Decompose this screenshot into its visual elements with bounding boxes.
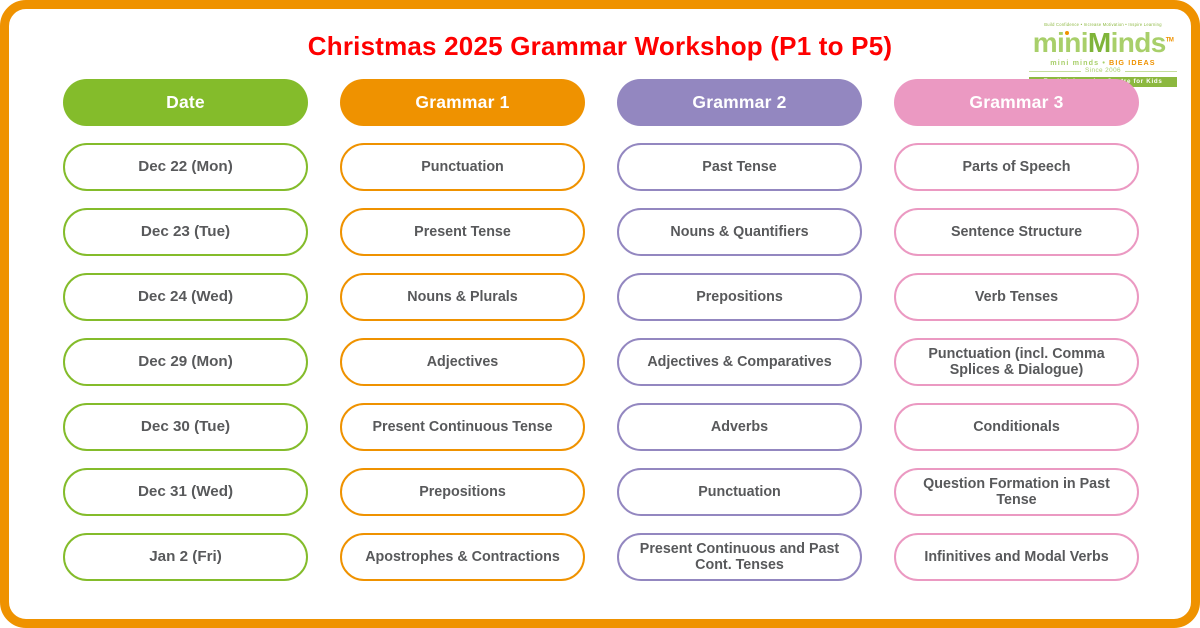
cell-date-1: Dec 22 (Mon)	[63, 143, 308, 191]
logo-subline-big: BIG IDEAS	[1109, 58, 1156, 67]
cell-grammar2-7: Present Continuous and Past Cont. Tenses	[617, 533, 862, 581]
cell-grammar2-6: Punctuation	[617, 468, 862, 516]
logo-word-m: M	[1088, 27, 1111, 58]
column-header-grammar2: Grammar 2	[617, 79, 862, 126]
cell-grammar3-7: Infinitives and Modal Verbs	[894, 533, 1139, 581]
cell-grammar1-6: Prepositions	[340, 468, 585, 516]
logo-trademark: TM	[1166, 38, 1173, 44]
cell-grammar1-2: Present Tense	[340, 208, 585, 256]
page-title: Christmas 2025 Grammar Workshop (P1 to P…	[308, 31, 892, 62]
cell-grammar3-3: Verb Tenses	[894, 273, 1139, 321]
cell-date-5: Dec 30 (Tue)	[63, 403, 308, 451]
column-header-date: Date	[63, 79, 308, 126]
cell-grammar1-7: Apostrophes & Contractions	[340, 533, 585, 581]
cell-grammar3-6: Question Formation in Past Tense	[894, 468, 1139, 516]
miniminds-logo: Build Confidence • Increase Motivation •…	[1029, 23, 1177, 87]
column-grammar2: Grammar 2 Past Tense Nouns & Quantifiers…	[617, 79, 862, 581]
cell-grammar2-2: Nouns & Quantifiers	[617, 208, 862, 256]
logo-subline: mini minds • BIG IDEAS	[1029, 59, 1177, 66]
cell-grammar1-3: Nouns & Plurals	[340, 273, 585, 321]
cell-grammar1-5: Present Continuous Tense	[340, 403, 585, 451]
logo-since: Since 2006	[1029, 68, 1177, 74]
cell-date-7: Jan 2 (Fri)	[63, 533, 308, 581]
cell-date-2: Dec 23 (Tue)	[63, 208, 308, 256]
logo-word-mini: mini	[1033, 27, 1088, 58]
column-grammar3: Grammar 3 Parts of Speech Sentence Struc…	[894, 79, 1139, 581]
schedule-grid: Date Dec 22 (Mon) Dec 23 (Tue) Dec 24 (W…	[63, 79, 1139, 581]
cell-grammar2-4: Adjectives & Comparatives	[617, 338, 862, 386]
column-header-grammar3: Grammar 3	[894, 79, 1139, 126]
column-grammar1: Grammar 1 Punctuation Present Tense Noun…	[340, 79, 585, 581]
cell-grammar3-4: Punctuation (incl. Comma Splices & Dialo…	[894, 338, 1139, 386]
column-date: Date Dec 22 (Mon) Dec 23 (Tue) Dec 24 (W…	[63, 79, 308, 581]
cell-grammar3-2: Sentence Structure	[894, 208, 1139, 256]
logo-subline-light: mini minds •	[1050, 58, 1109, 67]
workshop-schedule-poster: Christmas 2025 Grammar Workshop (P1 to P…	[0, 0, 1200, 628]
cell-date-6: Dec 31 (Wed)	[63, 468, 308, 516]
column-header-grammar1: Grammar 1	[340, 79, 585, 126]
cell-grammar3-1: Parts of Speech	[894, 143, 1139, 191]
cell-grammar2-5: Adverbs	[617, 403, 862, 451]
cell-grammar1-1: Punctuation	[340, 143, 585, 191]
cell-date-4: Dec 29 (Mon)	[63, 338, 308, 386]
cell-grammar3-5: Conditionals	[894, 403, 1139, 451]
cell-grammar2-1: Past Tense	[617, 143, 862, 191]
cell-date-3: Dec 24 (Wed)	[63, 273, 308, 321]
title-row: Christmas 2025 Grammar Workshop (P1 to P…	[9, 31, 1191, 62]
cell-grammar1-4: Adjectives	[340, 338, 585, 386]
logo-wordmark: miniMindsTM	[1029, 29, 1177, 57]
logo-word-inds: inds	[1111, 27, 1166, 58]
cell-grammar2-3: Prepositions	[617, 273, 862, 321]
logo-since-text: Since 2006	[1085, 68, 1121, 74]
